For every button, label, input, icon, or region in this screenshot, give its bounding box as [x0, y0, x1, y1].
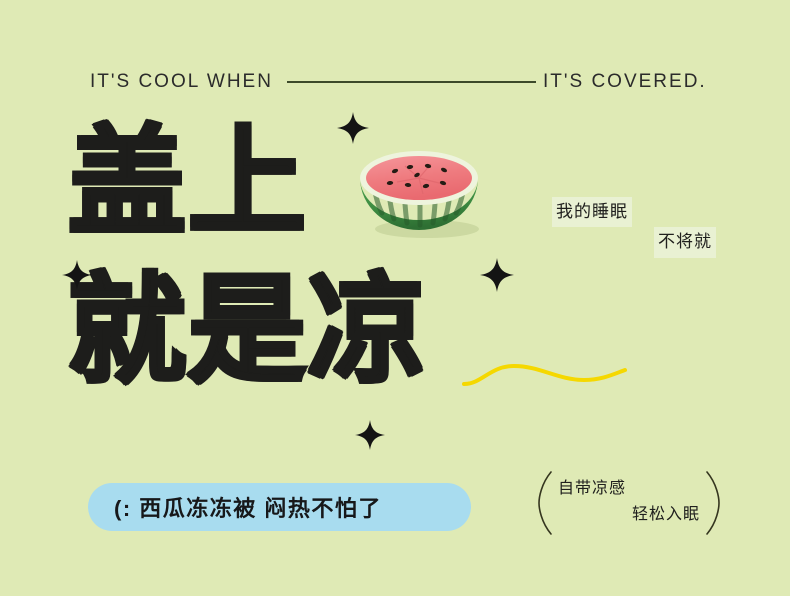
eyebrow-right-text: IT'S COVERED.: [543, 66, 707, 98]
bracketed-tagline: 自带凉感 轻松入眠: [536, 470, 722, 536]
promo-pill-text: (: 西瓜冻冻被 闷热不怕了: [114, 491, 382, 523]
eyebrow-divider-rule: [287, 81, 536, 83]
side-copy-line-2-wrap: 不将就: [552, 227, 732, 257]
left-paren-icon: [536, 470, 554, 536]
yellow-squiggle-line: [462, 348, 627, 394]
sparkle-bottom-icon: [355, 420, 385, 450]
eyebrow-left-text: IT'S COOL WHEN: [90, 66, 273, 98]
bracketed-tagline-text: 自带凉感 轻松入眠: [558, 476, 704, 527]
watermelon-half-illustration: [357, 136, 481, 240]
side-copy-line-1-wrap: 我的睡眠: [552, 197, 732, 227]
sparkle-right-icon: [480, 258, 514, 292]
side-copy-line-2: 不将就: [654, 227, 716, 257]
poster-canvas: IT'S COOL WHEN IT'S COVERED. 盖上 就是凉: [0, 0, 790, 596]
side-copy-line-1: 我的睡眠: [552, 197, 632, 227]
sparkle-left-icon: [62, 260, 92, 290]
bracketed-line-1: 自带凉感: [558, 476, 704, 502]
bracketed-line-2: 轻松入眠: [558, 502, 704, 528]
eyebrow-row: IT'S COOL WHEN IT'S COVERED.: [0, 66, 790, 98]
side-copy-block: 我的睡眠 不将就: [552, 197, 732, 258]
headline-line-2: 就是凉: [68, 272, 428, 390]
right-paren-icon: [704, 470, 722, 536]
headline-line-1: 盖上: [68, 124, 308, 242]
promo-pill-banner[interactable]: (: 西瓜冻冻被 闷热不怕了: [88, 483, 471, 531]
